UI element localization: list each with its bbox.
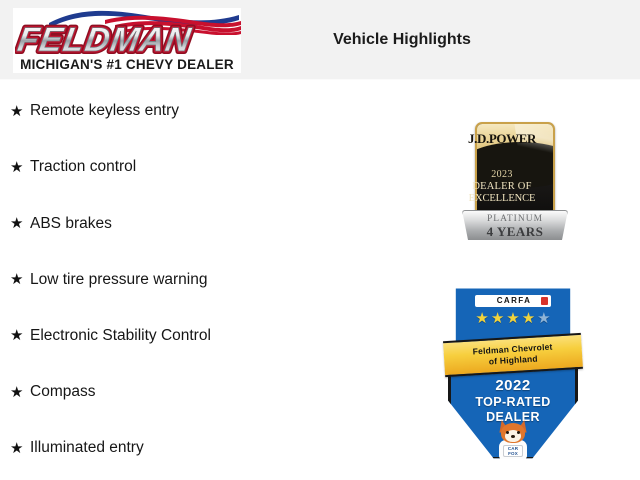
carfax-star: ★	[475, 311, 488, 326]
feature-label: Traction control	[30, 159, 136, 175]
feature-label: Illuminated entry	[30, 440, 144, 456]
carfax-star: ★	[506, 311, 519, 326]
feature-item: ★ABS brakes	[10, 212, 112, 234]
star-bullet-icon: ★	[10, 104, 30, 119]
carfax-star: ★	[537, 311, 550, 326]
carfax-logo-text: CARFA	[495, 297, 532, 305]
carfax-award-line1: TOP-RATED	[448, 395, 578, 409]
fox-shirt-logo: CAR FOX	[505, 446, 521, 456]
jd-power-tier: PLATINUM	[462, 214, 568, 224]
jd-power-year: 2023	[462, 169, 542, 180]
car-fox-mascot-icon: CAR FOX	[493, 423, 533, 459]
feature-label: Remote keyless entry	[30, 103, 179, 119]
carfax-year: 2022	[448, 377, 578, 394]
star-bullet-icon: ★	[10, 216, 30, 231]
feature-label: Compass	[30, 384, 95, 400]
feature-item: ★Compass	[10, 381, 95, 403]
jd-power-brand: J.D.POWER	[462, 131, 542, 147]
star-bullet-icon: ★	[10, 160, 30, 175]
logo-tagline: MICHIGAN'S #1 CHEVY DEALER	[13, 56, 241, 73]
feldman-dealer-logo: FELDMAN FELDMAN FELDMAN MICHIGAN'S #1 CH…	[13, 8, 241, 73]
carfax-logo: CARFA	[475, 295, 551, 307]
carfax-award-line2: DEALER	[448, 410, 578, 424]
carfax-star-rating: ★★★★★	[456, 311, 570, 326]
feature-label: Low tire pressure warning	[30, 272, 207, 288]
fox-eye-left	[506, 431, 509, 434]
fox-eye-right	[517, 431, 520, 434]
feature-item: ★Electronic Stability Control	[10, 325, 211, 347]
feature-label: ABS brakes	[30, 216, 112, 232]
feature-item: ★Illuminated entry	[10, 437, 144, 459]
feature-item: ★Remote keyless entry	[10, 100, 179, 122]
feature-label: Electronic Stability Control	[30, 328, 211, 344]
jd-power-duration: 4 YEARS	[462, 224, 568, 240]
carfax-star: ★	[522, 311, 535, 326]
carfax-dealer-line2: of Highland	[489, 354, 539, 368]
carfax-top-rated-dealer-badge: CARFA ★★★★★ Feldman Chevrolet of Highlan…	[448, 285, 578, 460]
fox-shirt-line2: FOX	[508, 451, 518, 456]
vehicle-highlights-page: FELDMAN FELDMAN FELDMAN MICHIGAN'S #1 CH…	[0, 0, 640, 480]
svg-text:FELDMAN: FELDMAN	[15, 21, 194, 57]
feldman-wordmark: FELDMAN FELDMAN FELDMAN	[15, 21, 241, 57]
award-badges: J.D.POWER 2023 DEALER OF EXCELLENCE PLAT…	[430, 80, 610, 480]
jd-power-award-line2: EXCELLENCE	[462, 193, 542, 204]
page-header: FELDMAN FELDMAN FELDMAN MICHIGAN'S #1 CH…	[0, 0, 640, 80]
carfax-star: ★	[491, 311, 504, 326]
star-bullet-icon: ★	[10, 385, 30, 400]
star-bullet-icon: ★	[10, 441, 30, 456]
page-body: ★Remote keyless entry★Traction control★A…	[0, 80, 640, 480]
fox-nose	[511, 435, 515, 438]
star-bullet-icon: ★	[10, 272, 30, 287]
feature-item: ★Traction control	[10, 156, 136, 178]
feature-item: ★Low tire pressure warning	[10, 269, 207, 291]
jd-power-badge: J.D.POWER 2023 DEALER OF EXCELLENCE PLAT…	[462, 122, 568, 240]
jd-power-award-line1: DEALER OF	[462, 181, 542, 192]
page-title-text: Vehicle Highlights	[333, 31, 471, 49]
star-bullet-icon: ★	[10, 328, 30, 343]
carfax-logo-red-square	[541, 297, 548, 305]
